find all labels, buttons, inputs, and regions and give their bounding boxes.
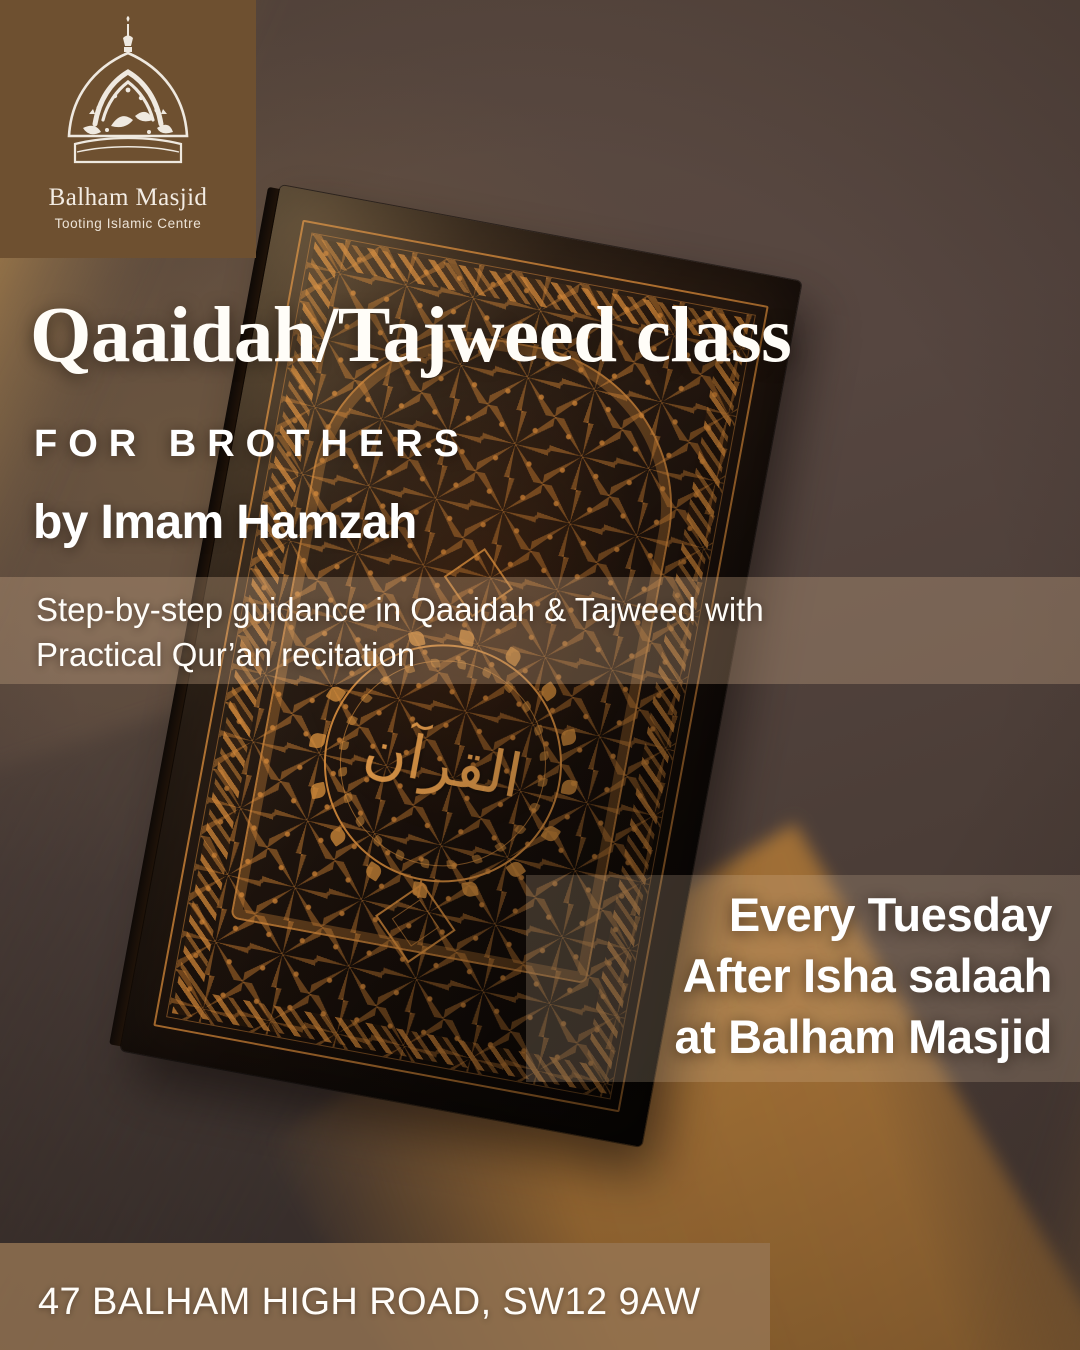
- medallion-inner-petal: [446, 859, 456, 869]
- logo-subtitle: Tooting Islamic Centre: [55, 216, 202, 231]
- schedule-line-3: at Balham Masjid: [526, 1006, 1052, 1067]
- audience-kicker: FOR BROTHERS: [34, 423, 470, 466]
- schedule-text: Every Tuesday After Isha salaah at Balha…: [526, 884, 1052, 1067]
- description-text: Step-by-step guidance in Qaaidah & Tajwe…: [36, 588, 996, 678]
- logo-badge[interactable]: Balham Masjid Tooting Islamic Centre: [0, 0, 256, 258]
- instructor-byline: by Imam Hamzah: [33, 495, 417, 550]
- medallion-calligraphy: القرآن: [339, 660, 546, 867]
- description-line-1: Step-by-step guidance in Qaaidah & Tajwe…: [36, 588, 996, 633]
- mosque-dome-calligraphy-icon: [37, 16, 219, 182]
- medallion-inner-petal: [337, 766, 347, 776]
- medallion-inner-petal: [338, 740, 348, 750]
- page-title: Qaaidah/Tajweed class: [30, 296, 791, 375]
- schedule-line-1: Every Tuesday: [526, 884, 1052, 945]
- logo-name: Balham Masjid: [49, 184, 208, 212]
- schedule-line-2: After Isha salaah: [526, 945, 1052, 1006]
- description-line-2: Practical Qur’an recitation: [36, 633, 996, 678]
- poster-canvas: القرآن: [0, 0, 1080, 1350]
- medallion-inner-petal: [539, 751, 549, 761]
- address-text: 47 BALHAM HIGH ROAD, SW12 9AW: [38, 1281, 701, 1324]
